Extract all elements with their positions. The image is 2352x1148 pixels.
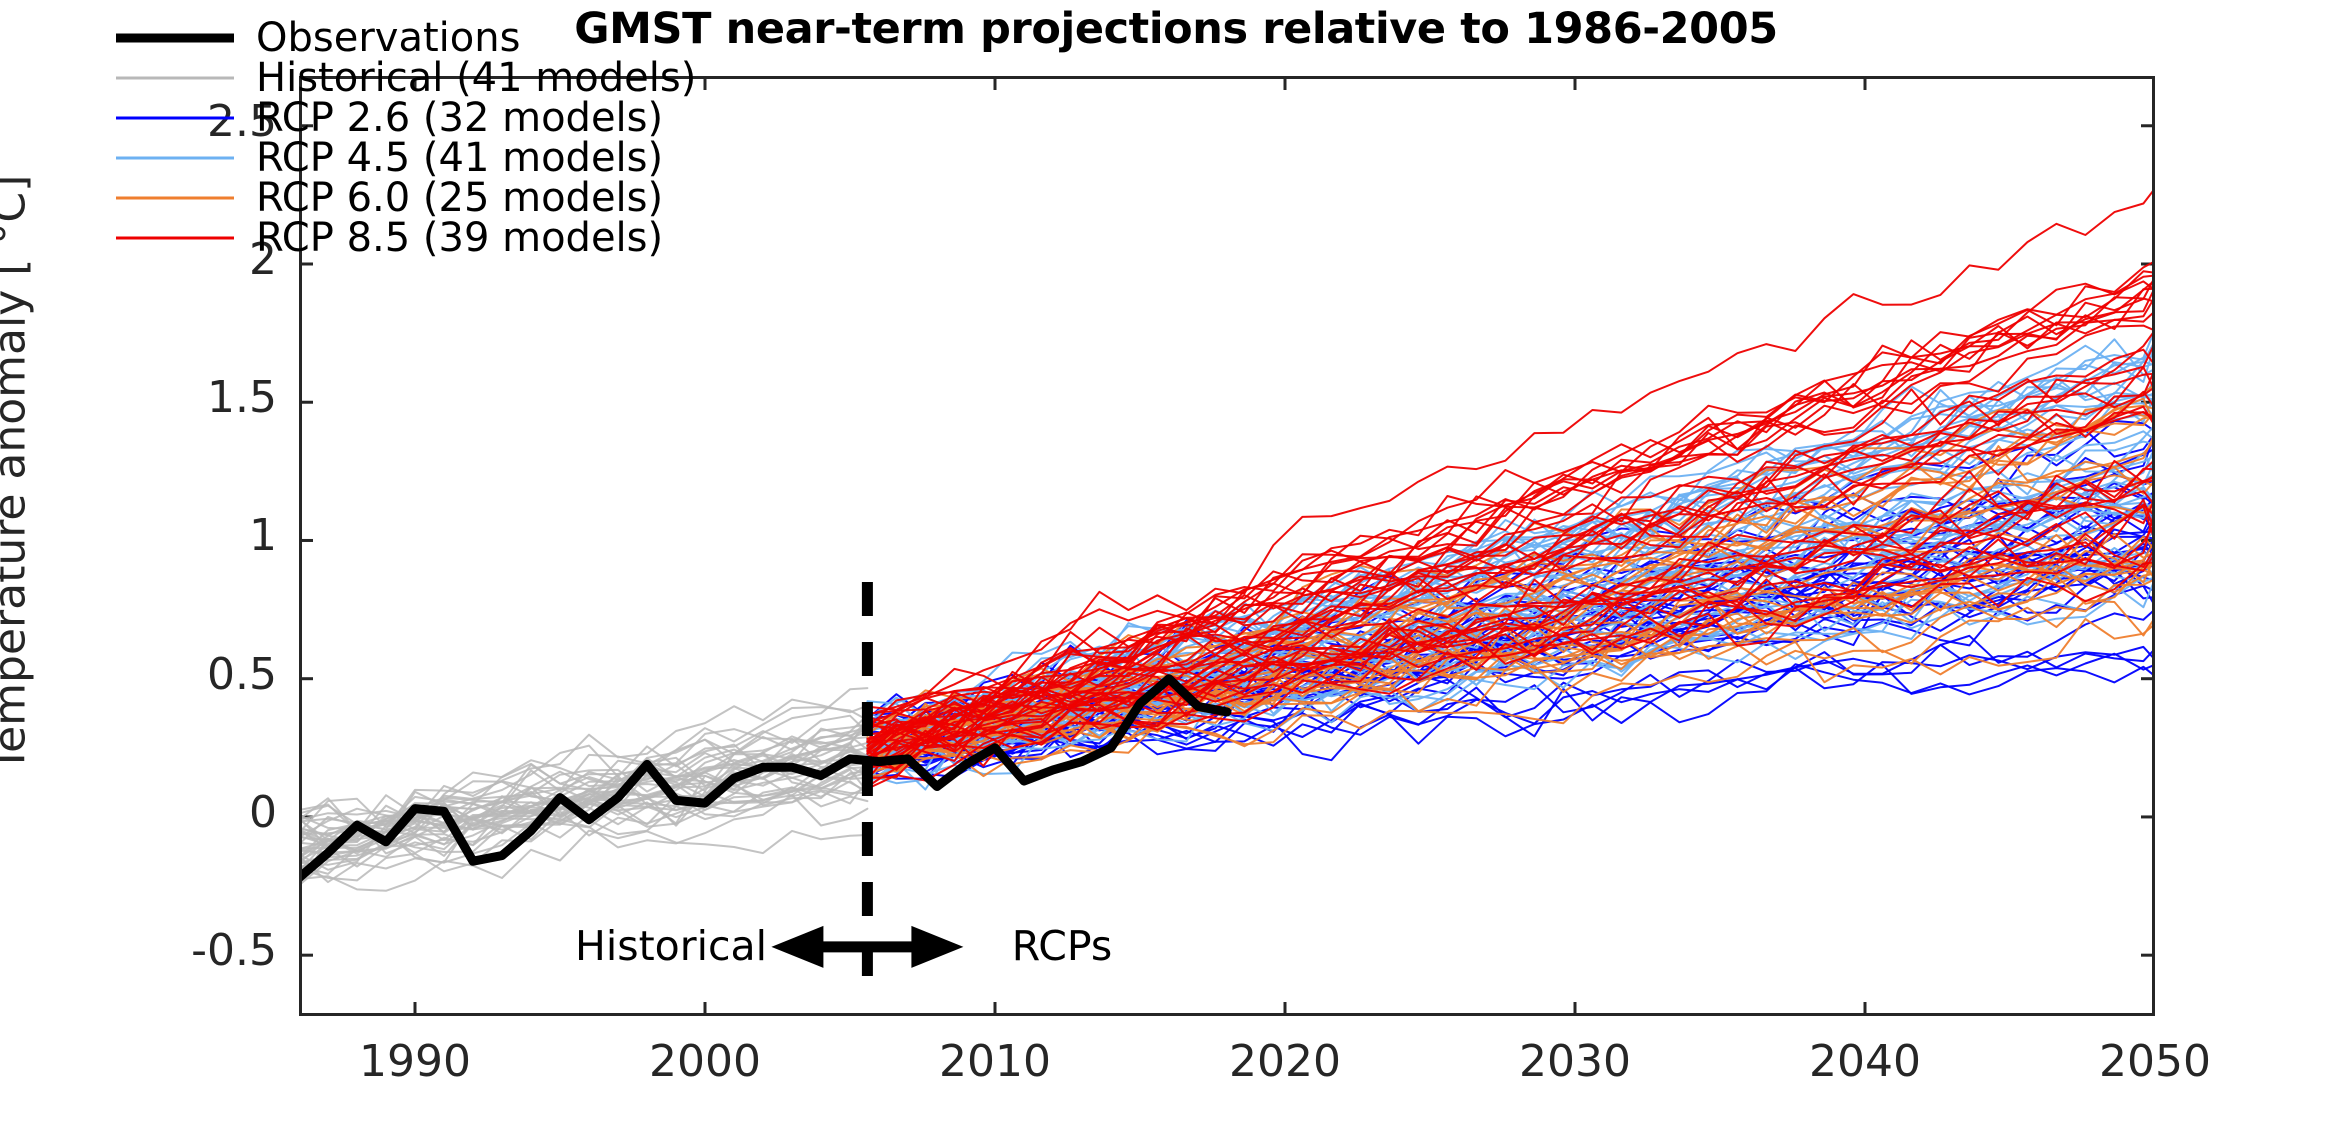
x-tick-label: 2010 [845,1036,1145,1087]
y-tick-label: 0.5 [0,649,277,700]
legend-label: Historical (41 models) [256,58,696,98]
x-tick-label: 2020 [1135,1036,1435,1087]
y-tick-label: 1.5 [0,372,277,423]
x-tick-label: 2030 [1425,1036,1725,1087]
y-tick-label: 1 [0,510,277,561]
historical-era-label: Historical [575,922,767,970]
legend-swatch-icon [116,138,234,178]
x-tick-label: 2040 [1715,1036,2015,1087]
x-tick-label: 2000 [555,1036,855,1087]
legend-swatch-icon [116,98,234,138]
legend-swatch-icon [116,178,234,218]
legend-label: RCP 2.6 (32 models) [256,98,663,138]
figure-root: GMST near-term projections relative to 1… [0,0,2352,1148]
legend-swatch-icon [116,18,234,58]
x-tick-label: 2050 [2005,1036,2305,1087]
rcps-era-label: RCPs [1012,922,1112,970]
legend-label: RCP 8.5 (39 models) [256,218,663,258]
series-historical [299,688,867,891]
y-tick-label: -0.5 [0,925,277,976]
x-tick-label: 1990 [265,1036,565,1087]
legend-label: Observations [256,18,520,58]
legend-swatch-icon [116,58,234,98]
legend-label: RCP 4.5 (41 models) [256,138,663,178]
legend-swatch-icon [116,218,234,258]
y-tick-label: 0 [0,787,277,838]
legend-label: RCP 6.0 (25 models) [256,178,663,218]
